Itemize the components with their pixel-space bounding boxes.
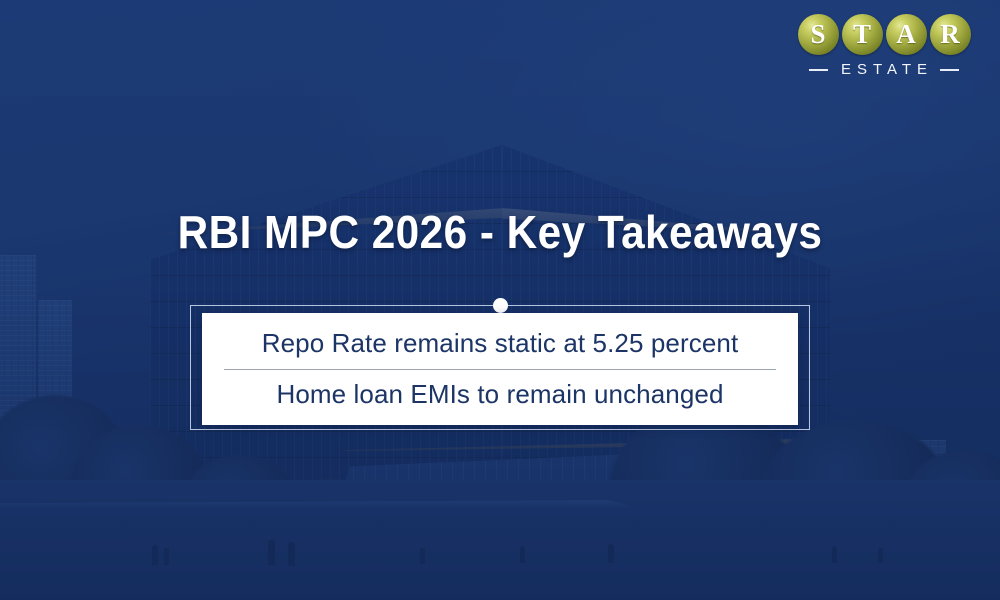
dash-right-icon <box>940 69 959 71</box>
logo-letter: T <box>853 21 871 48</box>
logo-orb-a: A <box>886 14 927 55</box>
logo-subtitle-row: ESTATE <box>796 61 972 78</box>
logo-letter: R <box>940 21 960 48</box>
callout-line-2: Home loan EMIs to remain unchanged <box>202 377 798 412</box>
logo-letter: S <box>810 21 825 48</box>
logo-orb-r: R <box>930 14 971 55</box>
logo-orb-t: T <box>842 14 883 55</box>
logo-orbs: S T A R <box>796 14 972 55</box>
callout-divider <box>224 369 776 370</box>
callout-dot-icon <box>493 298 508 313</box>
banner-image: S T A R ESTATE RBI MPC 2026 - Key Takeaw… <box>0 0 1000 600</box>
page-title: RBI MPC 2026 - Key Takeaways <box>40 205 960 259</box>
logo-letter: A <box>896 21 916 48</box>
dash-left-icon <box>809 69 828 71</box>
star-estate-logo[interactable]: S T A R ESTATE <box>796 14 972 78</box>
callout-line-1: Repo Rate remains static at 5.25 percent <box>202 326 798 361</box>
callout-panel: Repo Rate remains static at 5.25 percent… <box>202 313 798 425</box>
logo-subtitle: ESTATE <box>835 61 933 78</box>
logo-orb-s: S <box>798 14 839 55</box>
